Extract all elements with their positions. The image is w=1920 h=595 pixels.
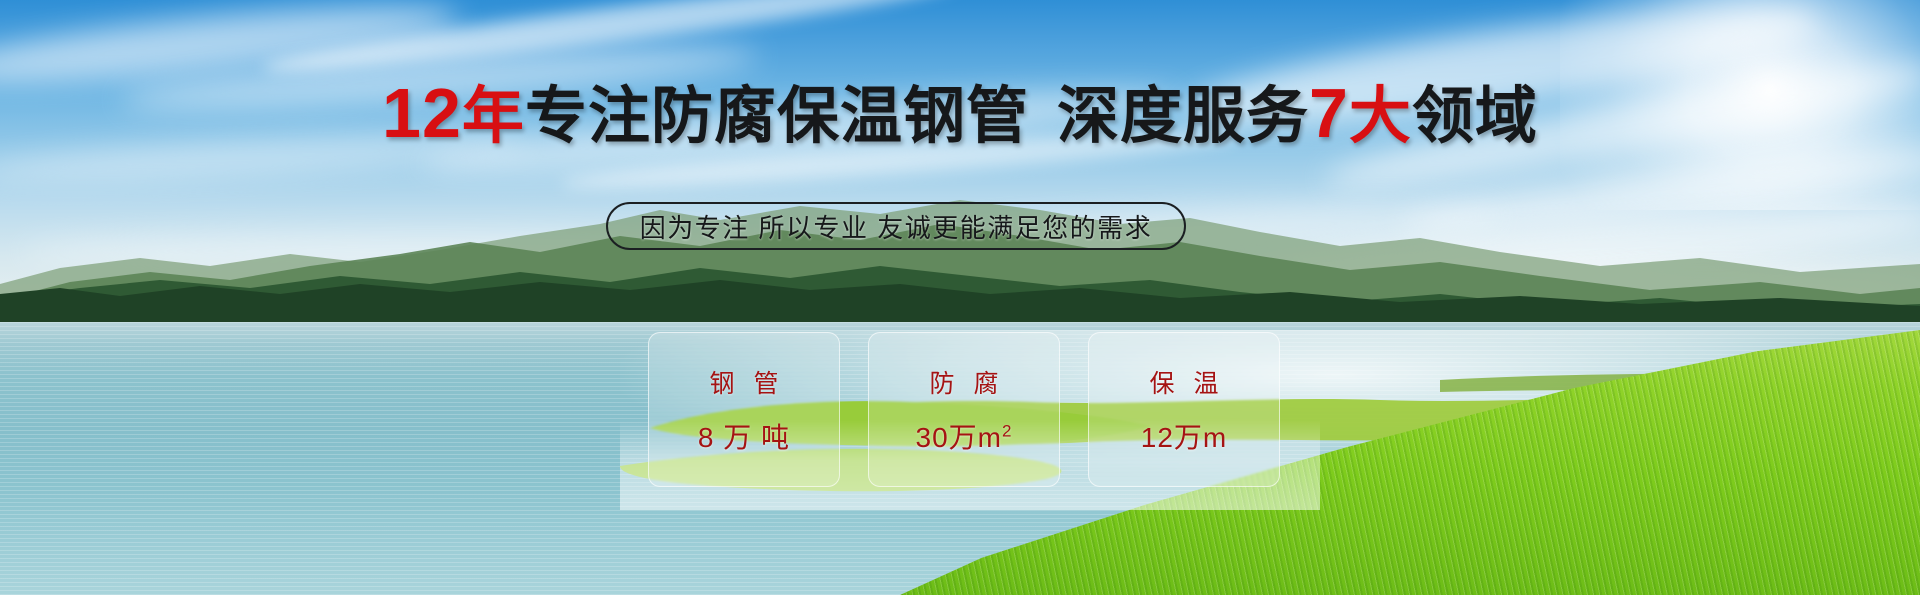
sky-background [0, 0, 1920, 330]
stat-card-value-text: 30万m [916, 422, 1002, 453]
stat-card-insulation[interactable]: 保 温 12万m [1088, 332, 1280, 487]
subtitle-text: 因为专注 所以专业 友诚更能满足您的需求 [640, 208, 1152, 245]
stat-card-value: 30万m2 [916, 416, 1013, 456]
hero-banner: 12年专注防腐保温钢管深度服务7大领域 因为专注 所以专业 友诚更能满足您的需求… [0, 0, 1920, 595]
stat-card-value: 12万m [1141, 416, 1227, 456]
headline-service-text: 深度服务 [1057, 82, 1309, 151]
stat-card-title: 钢 管 [704, 364, 785, 400]
page-title: 12年专注防腐保温钢管深度服务7大领域 [0, 78, 1920, 148]
stat-card-group: 钢 管 8 万 吨 防 腐 30万m2 保 温 12万m [648, 332, 1280, 487]
stat-card-value-superscript: 2 [1002, 421, 1012, 440]
headline-main-text: 专注防腐保温钢管 [525, 82, 1029, 151]
stat-card-value: 8 万 吨 [698, 416, 790, 456]
headline-fields-number: 7 [1309, 74, 1349, 152]
subtitle-pill: 因为专注 所以专业 友诚更能满足您的需求 [606, 202, 1186, 250]
stat-card-steel-pipe[interactable]: 钢 管 8 万 吨 [648, 332, 840, 487]
headline-fields-suffix: 领域 [1412, 82, 1538, 151]
headline-fields-unit: 大 [1349, 82, 1412, 151]
stat-card-anticorrosion[interactable]: 防 腐 30万m2 [868, 332, 1060, 487]
headline-years-number: 12 [382, 74, 462, 152]
stat-card-title: 防 腐 [924, 364, 1005, 400]
stat-card-value-text: 8 万 吨 [698, 422, 790, 453]
stat-card-title: 保 温 [1144, 364, 1225, 400]
headline-years-unit: 年 [462, 82, 525, 151]
stat-card-value-text: 12万m [1141, 422, 1227, 453]
